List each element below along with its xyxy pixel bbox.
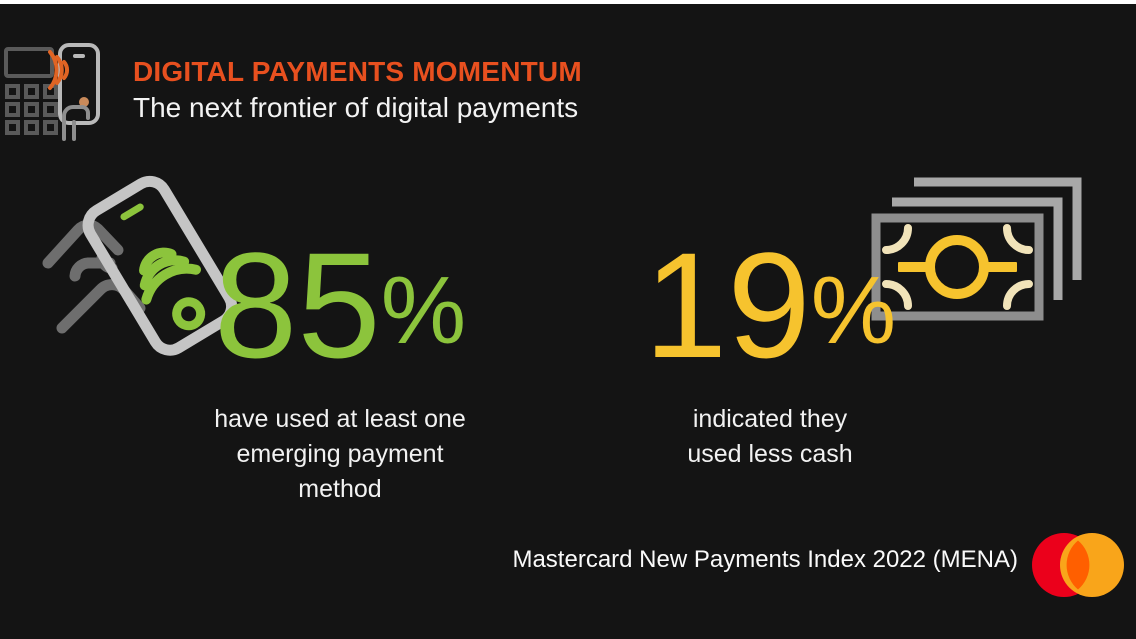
page-subtitle: The next frontier of digital payments	[133, 89, 833, 127]
stat-value-19: 19%	[600, 230, 940, 380]
page-title: DIGITAL PAYMENTS MOMENTUM	[133, 55, 833, 89]
stat-block-emerging-payment-method: 85% have used at least one emerging paym…	[140, 230, 540, 507]
header-text-block: DIGITAL PAYMENTS MOMENTUM The next front…	[133, 55, 833, 127]
top-white-strip	[0, 0, 1136, 4]
stat-number-text: 19	[644, 221, 811, 389]
infographic-canvas: DIGITAL PAYMENTS MOMENTUM The next front…	[0, 0, 1136, 639]
footer: Mastercard New Payments Index 2022 (MENA…	[0, 535, 1136, 605]
stat-number-text: 85	[214, 221, 381, 389]
mastercard-logo	[1028, 526, 1128, 604]
pos-terminal-contactless-phone-icon	[2, 40, 114, 145]
stat-caption-less-cash: indicated they used less cash	[600, 402, 940, 472]
stat-caption-emerging-payment-method: have used at least one emerging payment …	[140, 402, 540, 507]
source-attribution: Mastercard New Payments Index 2022 (MENA…	[512, 546, 1018, 574]
percent-symbol: %	[381, 257, 466, 364]
stat-block-less-cash: 19% indicated they used less cash	[600, 230, 940, 472]
stat-value-85: 85%	[140, 230, 540, 380]
percent-symbol: %	[811, 257, 896, 364]
